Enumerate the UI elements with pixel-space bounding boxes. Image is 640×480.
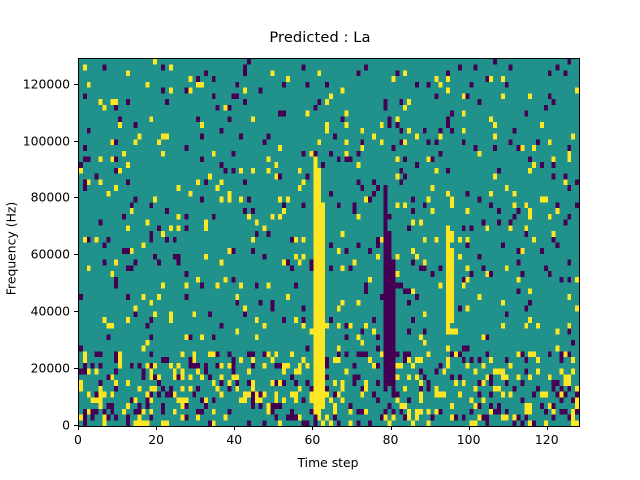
heatmap-image	[79, 59, 579, 426]
x-tick-mark	[78, 426, 79, 430]
y-tick-mark	[74, 141, 78, 142]
y-axis-label: Frequency (Hz)	[4, 149, 19, 349]
x-tick-mark	[234, 426, 235, 430]
y-tick-mark	[74, 84, 78, 85]
heatmap-axes	[78, 58, 580, 427]
y-tick-mark	[74, 368, 78, 369]
y-tick-label: 100000	[18, 133, 70, 148]
x-tick-mark	[547, 426, 548, 430]
y-tick-label: 80000	[18, 190, 70, 205]
page-title: Predicted : La	[0, 29, 640, 46]
x-tick-label: 40	[226, 432, 242, 447]
x-tick-label: 120	[535, 432, 559, 447]
y-tick-label: 20000	[18, 361, 70, 376]
x-tick-mark	[312, 426, 313, 430]
x-tick-label: 100	[457, 432, 481, 447]
y-tick-label: 120000	[18, 76, 70, 91]
x-tick-label: 60	[304, 432, 320, 447]
y-tick-label: 60000	[18, 247, 70, 262]
matplotlib-figure: Predicted : La 020406080100120 020000400…	[0, 0, 640, 480]
y-tick-mark	[74, 311, 78, 312]
y-tick-mark	[74, 425, 78, 426]
y-tick-label: 40000	[18, 304, 70, 319]
y-tick-label: 0	[18, 418, 70, 433]
x-tick-mark	[391, 426, 392, 430]
y-tick-mark	[74, 254, 78, 255]
x-axis-label: Time step	[78, 455, 578, 470]
x-tick-label: 0	[74, 432, 82, 447]
x-tick-mark	[469, 426, 470, 430]
x-tick-label: 80	[383, 432, 399, 447]
x-tick-label: 20	[148, 432, 164, 447]
x-tick-mark	[156, 426, 157, 430]
y-tick-mark	[74, 197, 78, 198]
